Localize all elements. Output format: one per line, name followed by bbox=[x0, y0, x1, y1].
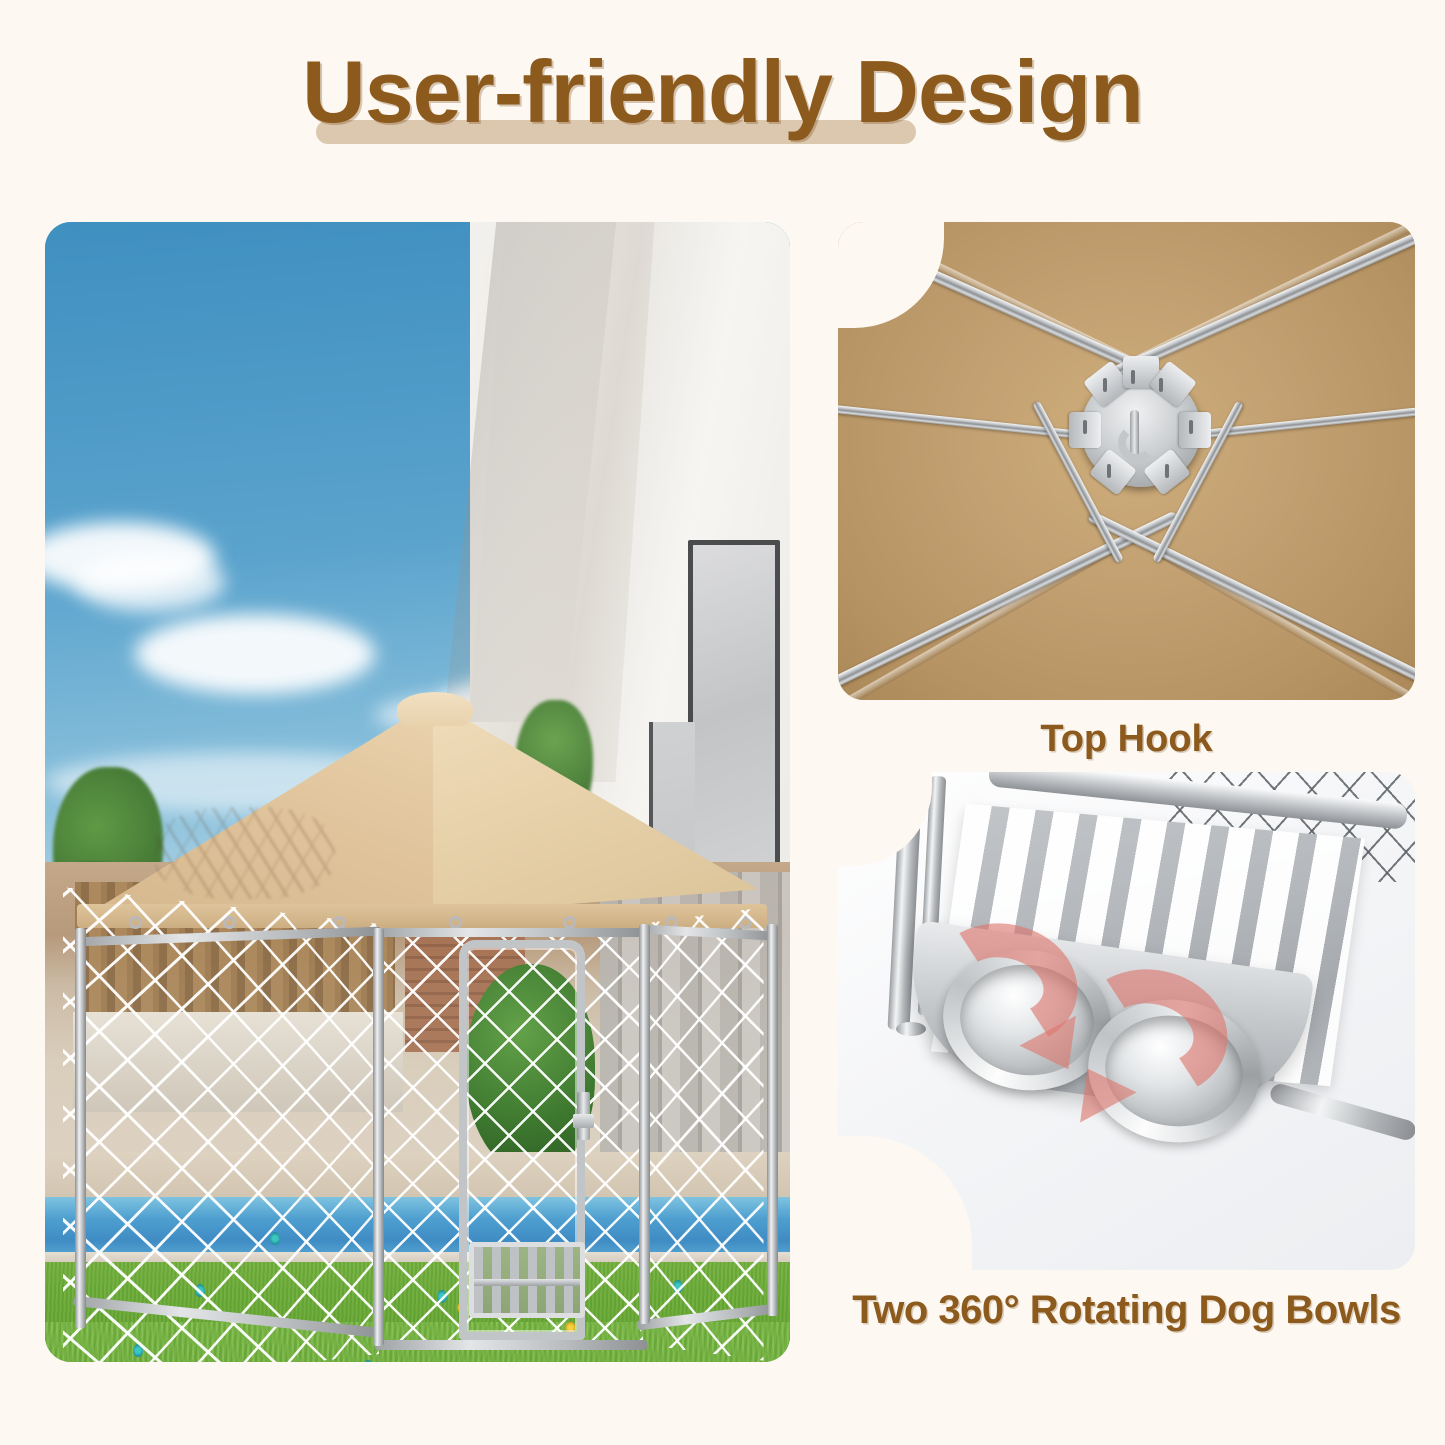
page-title-wrap: User-friendly Design bbox=[0, 48, 1445, 136]
hub-tab bbox=[1179, 412, 1211, 448]
caption-dog-bowls: Two 360° Rotating Dog Bowls bbox=[838, 1288, 1415, 1333]
dog-bowls-panel[interactable] bbox=[838, 772, 1415, 1270]
hero-image-panel[interactable] bbox=[45, 222, 790, 1362]
hub-slot bbox=[1103, 378, 1107, 392]
bottom-gate-flap[interactable] bbox=[469, 1242, 585, 1318]
hub-slot bbox=[1083, 420, 1087, 434]
hub-slot bbox=[1107, 464, 1111, 478]
hook-icon bbox=[1130, 410, 1139, 458]
page-title-inner: User-friendly Design bbox=[302, 48, 1143, 136]
top-rail bbox=[375, 928, 645, 937]
rotation-arrow-icon bbox=[1076, 970, 1228, 1096]
rotation-arrow-icon bbox=[930, 924, 1078, 1046]
corner-post bbox=[75, 928, 86, 1328]
chain-link-mesh-left bbox=[63, 887, 379, 1362]
tree-shadow bbox=[155, 807, 335, 899]
hub-slot bbox=[1189, 420, 1193, 434]
page-title: User-friendly Design bbox=[302, 42, 1143, 141]
bottom-rail bbox=[375, 1340, 647, 1350]
caption-top-hook: Top Hook bbox=[838, 718, 1415, 761]
canopy-slope-right bbox=[433, 700, 758, 915]
canopy-roof bbox=[45, 652, 790, 932]
hub-slot bbox=[1165, 464, 1169, 478]
chain-link-mesh-right bbox=[640, 907, 763, 1360]
corner-post bbox=[373, 928, 384, 1346]
top-hook-panel[interactable] bbox=[838, 222, 1415, 700]
corner-post bbox=[767, 924, 778, 1316]
hub-slot bbox=[1159, 378, 1163, 392]
canopy-peak bbox=[397, 692, 473, 726]
gate-flap-rail bbox=[474, 1279, 580, 1286]
dog-kennel bbox=[45, 652, 790, 1362]
cloud bbox=[75, 552, 225, 612]
post-base-flange bbox=[896, 1022, 926, 1036]
product-feature-page: User-friendly Design bbox=[0, 0, 1445, 1445]
door-latch-body[interactable] bbox=[573, 1114, 594, 1128]
hub-slot bbox=[1131, 370, 1135, 384]
corner-post bbox=[639, 924, 650, 1324]
